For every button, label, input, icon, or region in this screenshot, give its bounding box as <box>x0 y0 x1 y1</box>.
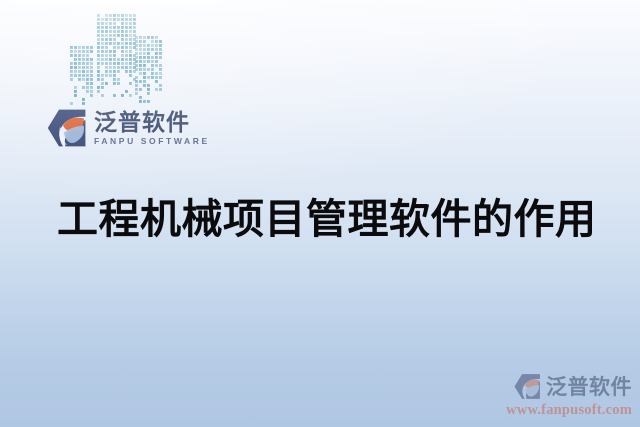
brand-name-en: FANPU SOFTWARE <box>94 137 210 146</box>
watermark-url: www.fanpusoft.com <box>506 402 632 419</box>
brand-name-cn: 泛普软件 <box>94 111 210 134</box>
watermark-logo-row: 泛普软件 <box>514 371 632 401</box>
watermark-name-cn: 泛普软件 <box>546 371 632 401</box>
pixel-city-skyline-icon <box>70 14 172 106</box>
fanpu-hexagon-logo-icon <box>47 108 87 148</box>
brand-wordmark: 泛普软件 FANPU SOFTWARE <box>94 111 210 146</box>
page-title: 工程机械项目管理软件的作用 <box>57 196 597 243</box>
fanpu-hexagon-logo-icon <box>514 373 541 400</box>
brand-logo: 泛普软件 FANPU SOFTWARE <box>47 108 210 148</box>
slide-canvas: 泛普软件 FANPU SOFTWARE 工程机械项目管理软件的作用 泛普软件 w… <box>0 0 640 427</box>
watermark: 泛普软件 www.fanpusoft.com <box>484 371 632 419</box>
